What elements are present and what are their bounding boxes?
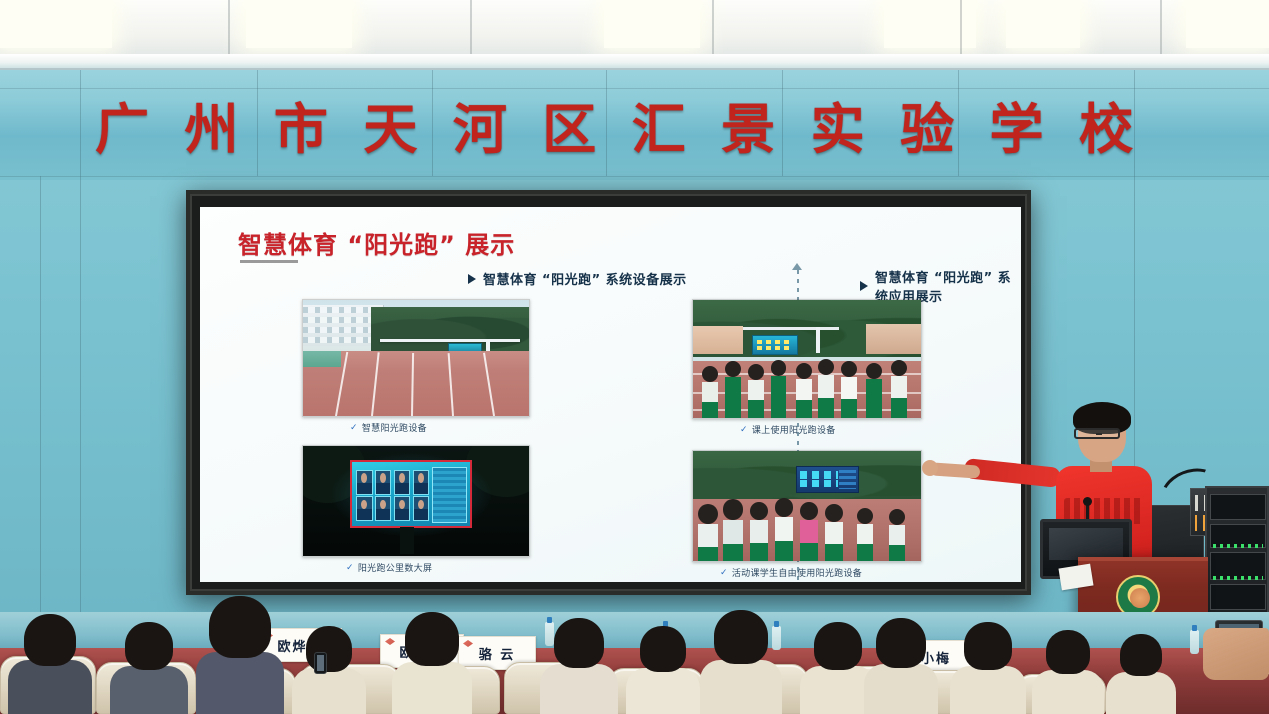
caption-text: 活动课学生自由使用阳光跑设备 [732, 566, 862, 579]
audience-member [196, 598, 284, 714]
school-name-char: 校 [1079, 85, 1135, 164]
audience-member [950, 624, 1026, 714]
school-name-char: 广 [95, 85, 151, 164]
photo-running-track-with-led-gantry [302, 299, 530, 417]
school-name-char: 天 [363, 85, 419, 164]
projection-screen: 智慧体育 “阳光跑” 展示 智慧体育 “阳光跑” 系统设备展示 智慧体育 “阳光… [186, 190, 1031, 595]
hand-holding-camera [1203, 628, 1269, 680]
school-name-char: 实 [811, 85, 867, 164]
smartphone[interactable] [314, 652, 327, 674]
caption-row: ✓ 活动课学生自由使用阳光跑设备 [720, 566, 862, 579]
check-icon: ✓ [346, 563, 354, 573]
slide-title: 智慧体育 “阳光跑” 展示 [238, 225, 515, 260]
check-icon: ✓ [740, 425, 748, 435]
presentation-slide: 智慧体育 “阳光跑” 展示 智慧体育 “阳光跑” 系统设备展示 智慧体育 “阳光… [200, 207, 1021, 582]
left-column-heading: 智慧体育 “阳光跑” 系统设备展示 [468, 269, 687, 288]
caption-row: ✓ 课上使用阳光跑设备 [740, 423, 836, 436]
caption-text: 阳光跑公里数大屏 [358, 561, 432, 574]
caption-text: 智慧阳光跑设备 [362, 421, 427, 434]
audience-member [700, 612, 782, 714]
caption-row: ✓ 智慧阳光跑设备 [350, 421, 427, 434]
ceiling-trim [0, 54, 1269, 70]
photo-students-running-past-display [692, 299, 922, 419]
title-underline [240, 260, 298, 263]
caption-text: 课上使用阳光跑设备 [752, 423, 836, 436]
check-icon: ✓ [350, 423, 358, 433]
audience-member [392, 614, 472, 714]
audience-member [292, 628, 366, 714]
left-heading-text: 智慧体育 “阳光跑” 系统设备展示 [483, 269, 687, 288]
school-name-char: 州 [184, 85, 240, 164]
presenter-pointing-hand [922, 460, 938, 476]
arrow-right-marker-icon [468, 274, 476, 284]
school-name-char: 验 [900, 85, 956, 164]
photo-led-leaderboard-screen-at-night [302, 445, 530, 557]
eyeglasses-icon [1074, 428, 1120, 439]
auditorium-presentation-photo: 广 州 市 天 河 区 汇 景 实 验 学 校 智慧体育 “阳光跑” 展示 智慧… [0, 0, 1269, 714]
school-name-char: 汇 [632, 85, 688, 164]
audience-member [540, 622, 618, 714]
school-name-char: 学 [990, 85, 1046, 164]
audience-member [626, 628, 700, 714]
audience-member [864, 618, 938, 714]
audience-member [1106, 636, 1176, 714]
school-name-char: 市 [274, 85, 330, 164]
caption-row: ✓ 阳光跑公里数大屏 [346, 561, 432, 574]
check-icon: ✓ [720, 568, 728, 578]
audience-member [110, 624, 188, 714]
divider-arrow-up-icon [792, 263, 802, 270]
audience-member [8, 618, 92, 714]
water-bottle [1190, 630, 1199, 654]
photo-students-at-led-board-activity-class [692, 450, 922, 562]
school-name-char: 河 [453, 85, 509, 164]
school-name-char: 区 [542, 85, 598, 164]
school-name-char: 景 [721, 85, 777, 164]
school-name-sign: 广 州 市 天 河 区 汇 景 实 验 学 校 [95, 88, 1135, 160]
placard-text: 骆 云 [479, 644, 516, 663]
audience-member [1032, 632, 1104, 714]
arrow-right-marker-icon [860, 281, 868, 291]
